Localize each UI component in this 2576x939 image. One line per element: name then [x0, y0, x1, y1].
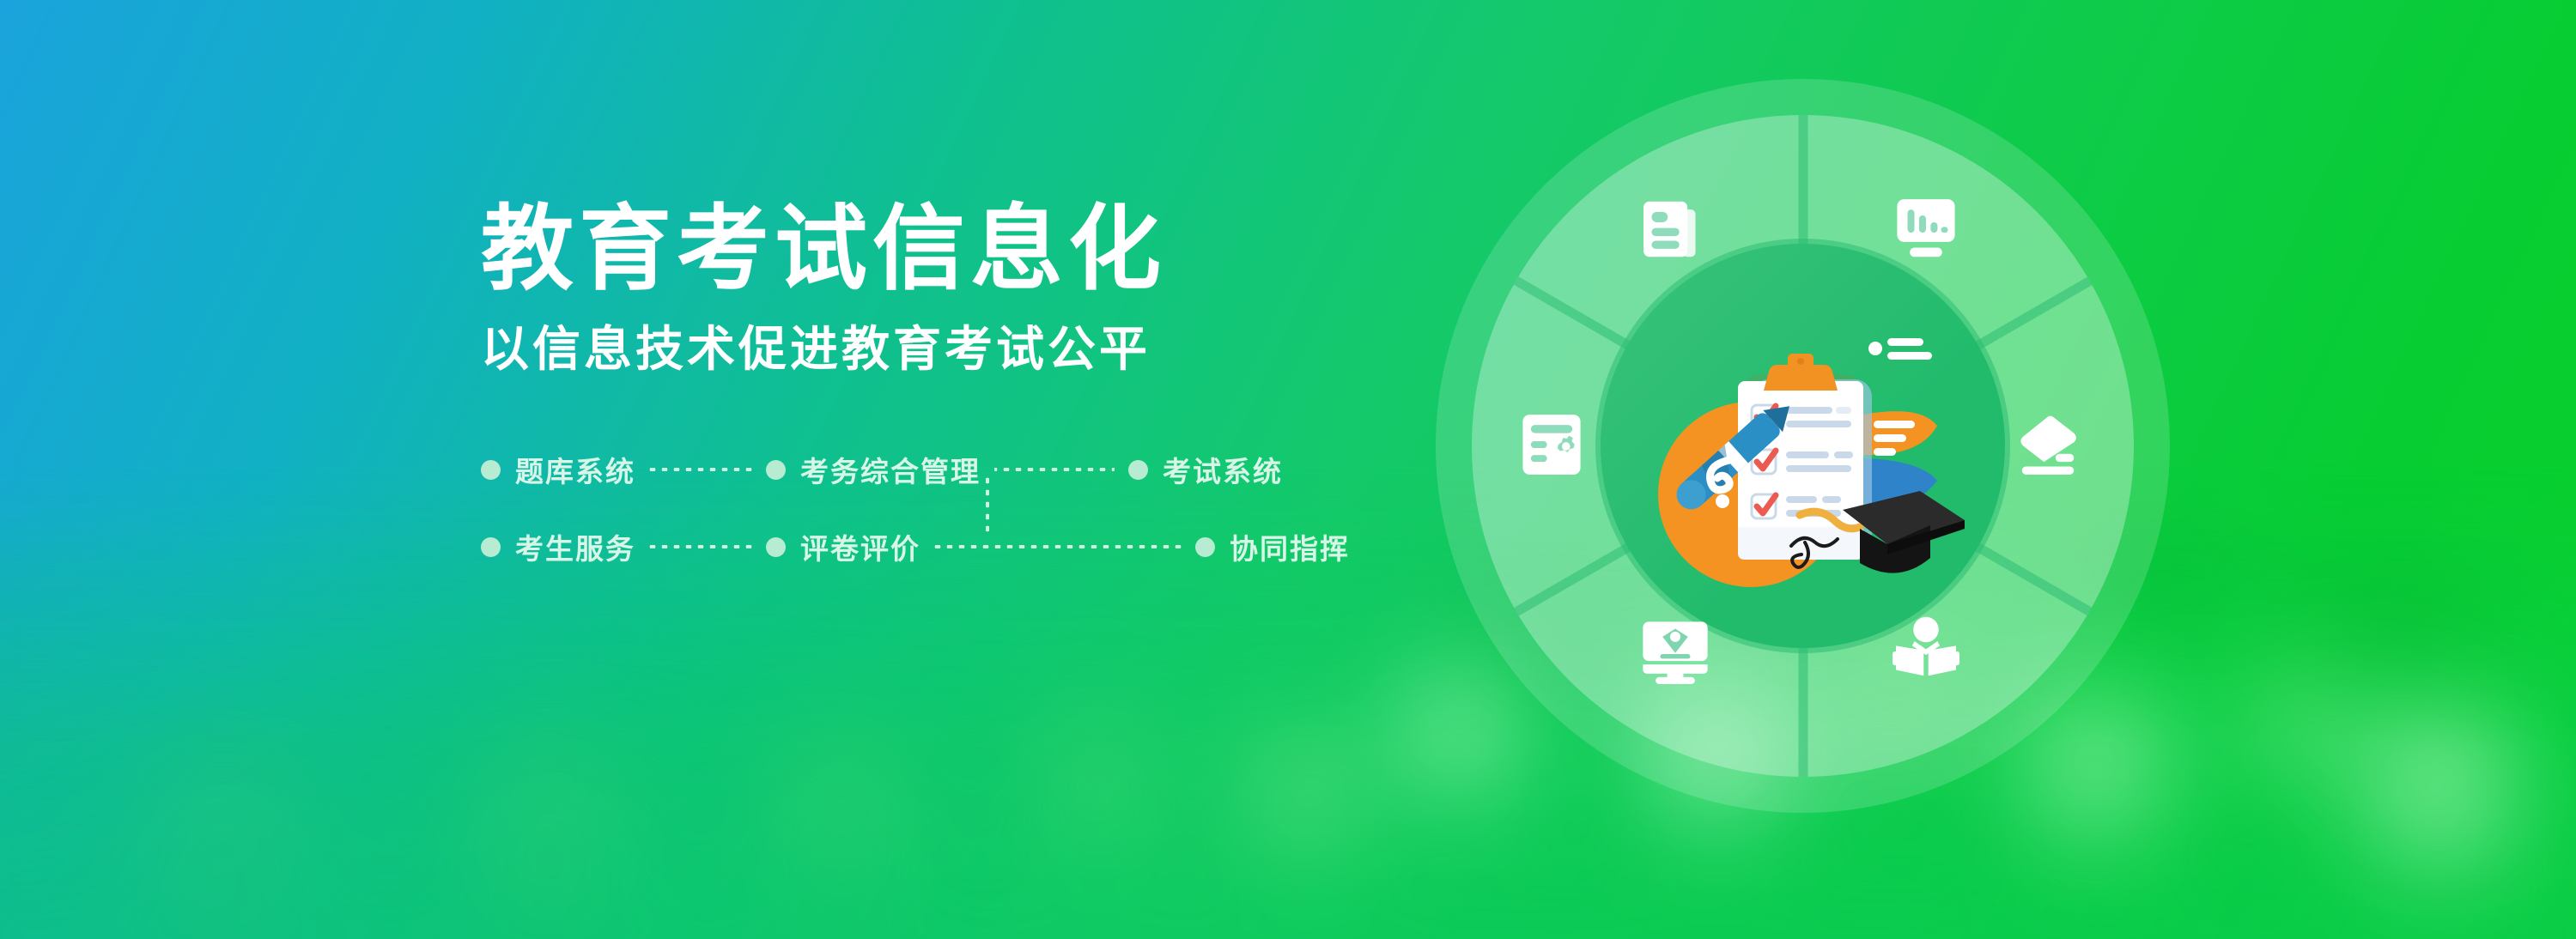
dotted-connector [994, 468, 1115, 471]
document-gear-icon[interactable] [1515, 408, 1589, 482]
feature-label: 考生服务 [515, 526, 635, 567]
feature-list: 题库系统 考务综合管理 考试系统 考生服务 [481, 443, 1350, 573]
vertical-dotted-connector [986, 473, 989, 536]
bullet-dot-icon [1128, 460, 1148, 480]
dotted-connector [934, 545, 1182, 548]
feature-item-xietong[interactable]: 协同指挥 [1195, 526, 1350, 567]
feature-item-tiku[interactable]: 题库系统 [481, 449, 635, 490]
exam-clipboard-illustration [1601, 244, 2005, 648]
bullet-dot-icon [481, 537, 501, 557]
feature-label: 题库系统 [515, 449, 635, 490]
feature-row: 题库系统 考务综合管理 考试系统 [481, 443, 1350, 496]
bullet-dot-icon [766, 537, 786, 557]
feature-label: 考务综合管理 [800, 449, 981, 490]
feature-row: 考生服务 评卷评价 协同指挥 [481, 520, 1350, 573]
feature-item-kaosheng[interactable]: 考生服务 [481, 526, 635, 567]
feature-label: 评卷评价 [800, 526, 920, 567]
exam-system-wheel-graphic [1436, 79, 2170, 813]
feature-item-kaowu[interactable]: 考务综合管理 [766, 449, 981, 490]
bullet-dot-icon [481, 460, 501, 480]
copy-block: 教育考试信息化 以信息技术促进教育考试公平 题库系统 考务综合管理 考试系统 [481, 194, 1350, 573]
bullet-dot-icon [766, 460, 786, 480]
feature-label: 考试系统 [1163, 449, 1283, 490]
dotted-connector [649, 468, 752, 471]
bullet-dot-icon [1195, 537, 1215, 557]
feature-item-kaoshi[interactable]: 考试系统 [1128, 449, 1283, 490]
page-title: 教育考试信息化 [481, 194, 1350, 303]
education-exam-banner: 教育考试信息化 以信息技术促进教育考试公平 题库系统 考务综合管理 考试系统 [0, 0, 2576, 939]
dotted-connector [649, 545, 752, 548]
feature-item-pingjuan[interactable]: 评卷评价 [766, 526, 920, 567]
page-subtitle: 以信息技术促进教育考试公平 [481, 318, 1350, 381]
feature-label: 协同指挥 [1230, 526, 1350, 567]
eraser-icon[interactable] [2013, 408, 2087, 482]
